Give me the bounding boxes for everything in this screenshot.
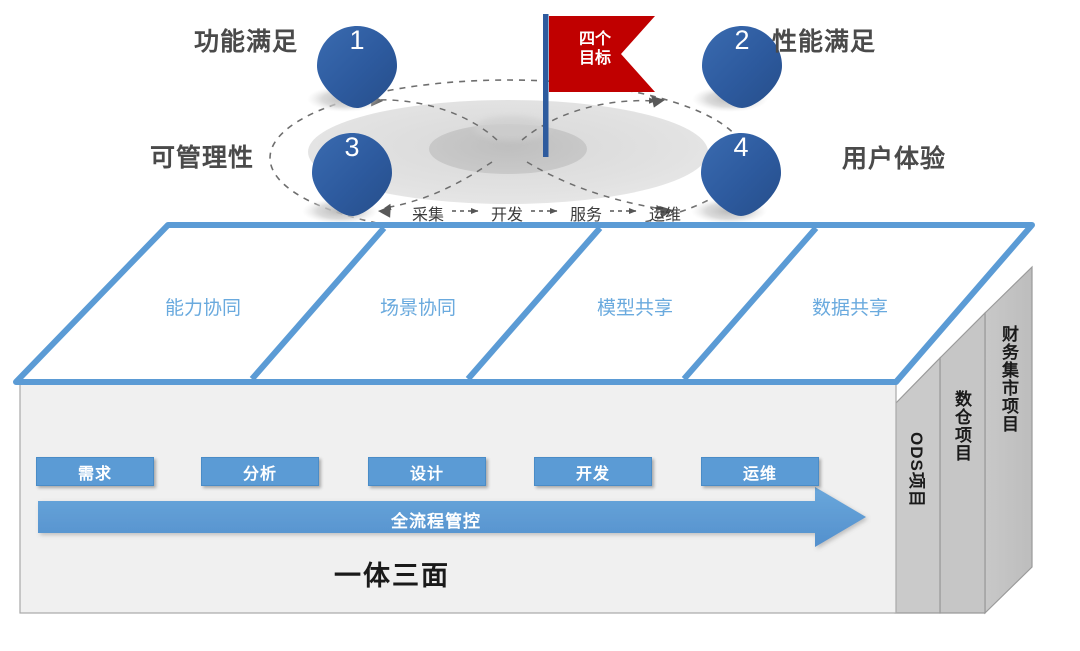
diagram-canvas: 功能满足 性能满足 可管理性 用户体验 四个 目标 1 2 3 4 采集 开发 … xyxy=(0,0,1080,651)
slab-label-4: 数据共享 xyxy=(812,293,888,320)
diagram-bottom-title: 一体三面 xyxy=(334,554,450,593)
flow-step-1: 采集 xyxy=(412,201,444,225)
stage-button-5[interactable]: 运维 xyxy=(701,457,819,486)
pin-3-number: 3 xyxy=(330,132,374,163)
side-panel-label-fin: 财务集市项目 xyxy=(1000,325,1017,433)
diagram-shapes xyxy=(0,0,1080,651)
corner-label-top-left: 功能满足 xyxy=(194,22,298,58)
slab-label-3: 模型共享 xyxy=(597,293,673,320)
side-panel-label-dw: 数仓项目 xyxy=(953,390,970,462)
slab-label-1: 能力协同 xyxy=(165,293,241,320)
slab-label-2: 场景协同 xyxy=(380,293,456,320)
corner-label-mid-right: 用户体验 xyxy=(842,139,946,175)
stage-button-3[interactable]: 设计 xyxy=(368,457,486,486)
flag-label-line1: 四个 xyxy=(563,30,627,49)
stage-button-2[interactable]: 分析 xyxy=(201,457,319,486)
stage-button-4[interactable]: 开发 xyxy=(534,457,652,486)
side-panel-label-ods: ODS项目 xyxy=(908,432,925,508)
flow-step-3: 服务 xyxy=(570,201,602,225)
process-arrow-label: 全流程管控 xyxy=(391,507,481,532)
flow-step-4: 运维 xyxy=(649,201,681,225)
pin-1-number: 1 xyxy=(335,25,379,56)
flow-step-2: 开发 xyxy=(491,201,523,225)
stage-button-1[interactable]: 需求 xyxy=(36,457,154,486)
hole-shadow xyxy=(474,116,550,140)
side-panel-2 xyxy=(940,313,985,613)
flag-label-line2: 目标 xyxy=(563,49,627,68)
flag-pole xyxy=(543,14,549,157)
corner-label-top-right: 性能满足 xyxy=(772,22,876,58)
corner-label-mid-left: 可管理性 xyxy=(150,138,254,174)
pin-4-number: 4 xyxy=(719,132,763,163)
side-panel-3 xyxy=(985,267,1032,613)
front-face xyxy=(20,383,896,613)
pin-2-number: 2 xyxy=(720,25,764,56)
